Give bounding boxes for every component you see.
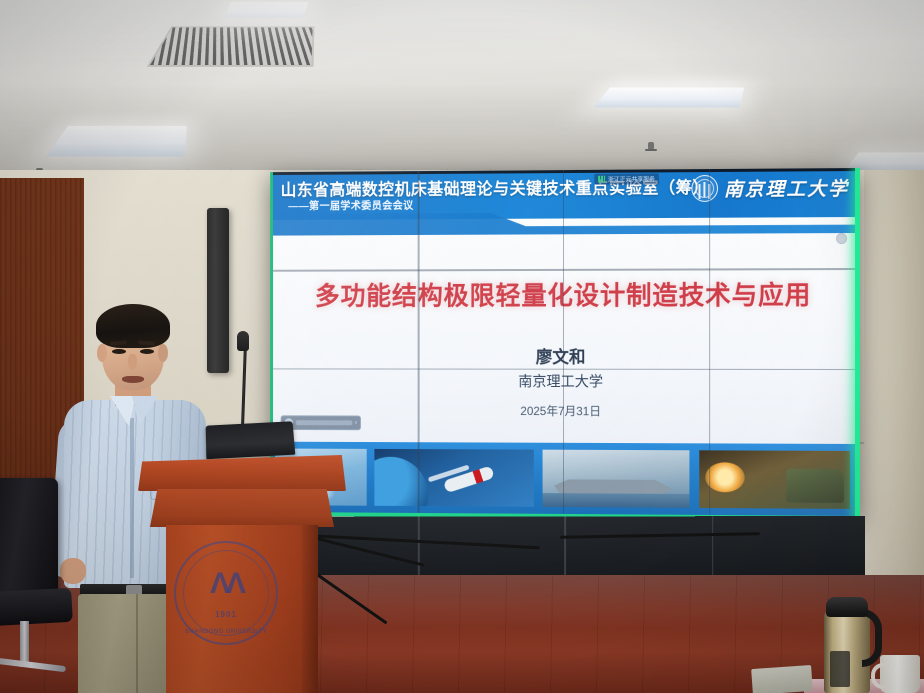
emblem-year: 1901 [176, 610, 276, 619]
presenter-eye [140, 349, 154, 354]
watermark-text: 浙江正元共享服务 [608, 174, 655, 183]
conference-room-photo: 山东省高端数控机床基础理论与关键技术重点实验室（筹） ——第一届学术委员会会议 … [0, 0, 924, 693]
ceiling-shading [0, 0, 924, 185]
toolbar-progress-bar[interactable] [296, 420, 352, 425]
footer-image-artillery [699, 450, 850, 509]
podium-mid-trim [150, 489, 334, 527]
chair-base [0, 658, 66, 672]
emblem-ring-text: SHANDONG UNIVERSITY [176, 629, 276, 635]
ceiling [0, 0, 924, 185]
chair-seat [0, 588, 73, 626]
presenter-laptop[interactable] [206, 421, 296, 459]
podium-microphone-icon [237, 331, 249, 351]
table-papers [751, 665, 813, 693]
slide-affiliation: 南京理工大学 [273, 370, 855, 392]
signal-bars-icon [598, 176, 605, 183]
broadcast-watermark: 浙江正元共享服务 [594, 173, 659, 184]
thermos-handle [862, 609, 882, 667]
presenter-eye [112, 349, 126, 354]
office-chair[interactable] [0, 478, 90, 693]
university-logo: 南京理工大学 [691, 174, 849, 202]
screen-edge-light-right [855, 168, 860, 520]
stainless-steel-thermos [816, 589, 882, 693]
presenter-ear [158, 344, 168, 362]
slide-author: 廖文和 [273, 343, 855, 368]
meeting-subtitle: ——第一届学术委员会会议 [288, 198, 413, 213]
shirt-placket [130, 418, 134, 578]
footer-image-spacecraft [374, 449, 533, 507]
led-video-wall[interactable]: 山东省高端数控机床基础理论与关键技术重点实验室（筹） ——第一届学术委员会会议 … [270, 168, 860, 520]
presenter-mouth [122, 376, 144, 383]
podium: ΛΛ 1901 SHANDONG UNIVERSITY [138, 455, 346, 693]
presenter-hair [96, 304, 170, 348]
slide-corner-button[interactable] [836, 233, 847, 244]
podium-top [138, 455, 346, 491]
previous-slide-icon[interactable]: ‹ [355, 419, 357, 426]
sprinkler-head-icon [648, 142, 654, 151]
chair-backrest [0, 478, 58, 598]
slide-footer-band [273, 442, 855, 516]
university-seal-icon [691, 175, 718, 202]
thermos-lid [826, 597, 868, 617]
presentation-slide: 山东省高端数控机床基础理论与关键技术重点实验室（筹） ——第一届学术委员会会议 … [273, 171, 855, 516]
footer-image-warship [543, 450, 690, 508]
thermos-label [830, 651, 850, 687]
shandong-university-emblem: ΛΛ 1901 SHANDONG UNIVERSITY [174, 541, 278, 645]
slide-main-title: 多功能结构极限轻量化设计制造技术与应用 [273, 275, 855, 313]
right-wall-strip [864, 170, 924, 600]
presenter-ear [97, 344, 107, 362]
presenter-nose [128, 354, 137, 370]
university-name: 南京理工大学 [724, 174, 849, 202]
ceramic-cup [880, 655, 920, 693]
emblem-mark: ΛΛ [210, 569, 242, 599]
